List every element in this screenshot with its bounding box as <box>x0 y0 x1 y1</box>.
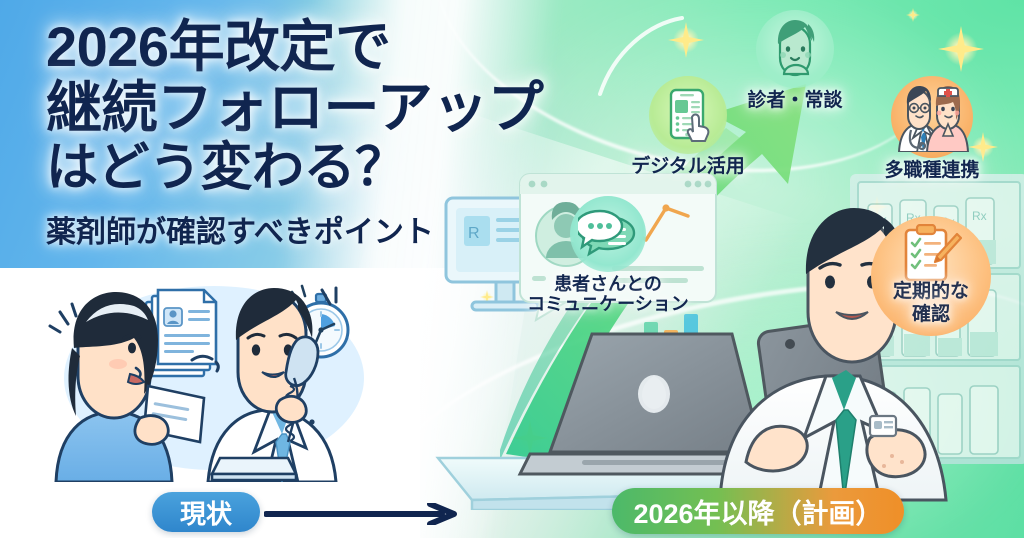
doctor-nurse-icon <box>891 76 973 158</box>
clipboard-glyph <box>900 224 962 287</box>
title-subtitle: 薬剤師が確認すべきポイント <box>46 207 586 251</box>
feature-badge-check[interactable]: 定期的な 確認 <box>866 216 996 336</box>
title-block: 2026年改定で 継続フォローアップ はどう変わる？ 薬剤師が確認すべきポイント <box>46 18 586 251</box>
feature-label-communication: 患者さんとの コミュニケーション <box>508 274 708 314</box>
clipboard-pencil-icon: 定期的な 確認 <box>871 216 991 336</box>
status-pill-current[interactable]: 現状 <box>152 492 260 532</box>
status-pill-future[interactable]: 2026年以降（計画） <box>612 488 904 534</box>
speech-bubbles-icon <box>570 196 646 272</box>
feature-label-team: 多職種連携 <box>842 160 1022 181</box>
banner-root: RxRxRxRx RxRx R <box>0 0 1024 538</box>
title-line-1: 2026年改定で <box>46 18 586 75</box>
patient-face-icon <box>756 10 834 88</box>
feature-label-digital: デジタル活用 <box>598 156 778 177</box>
pharmacist-phone-illustration <box>44 282 374 482</box>
title-line-3: はどう変わる？ <box>46 142 586 195</box>
title-line-2: 継続フォローアップ <box>46 79 586 136</box>
feature-badge-team[interactable]: 多職種連携 <box>842 76 1022 181</box>
feature-badge-communication[interactable]: 患者さんとの コミュニケーション <box>508 196 708 314</box>
right-arrow-icon <box>264 503 464 525</box>
feature-label-check: 定期的な 確認 <box>871 281 991 326</box>
